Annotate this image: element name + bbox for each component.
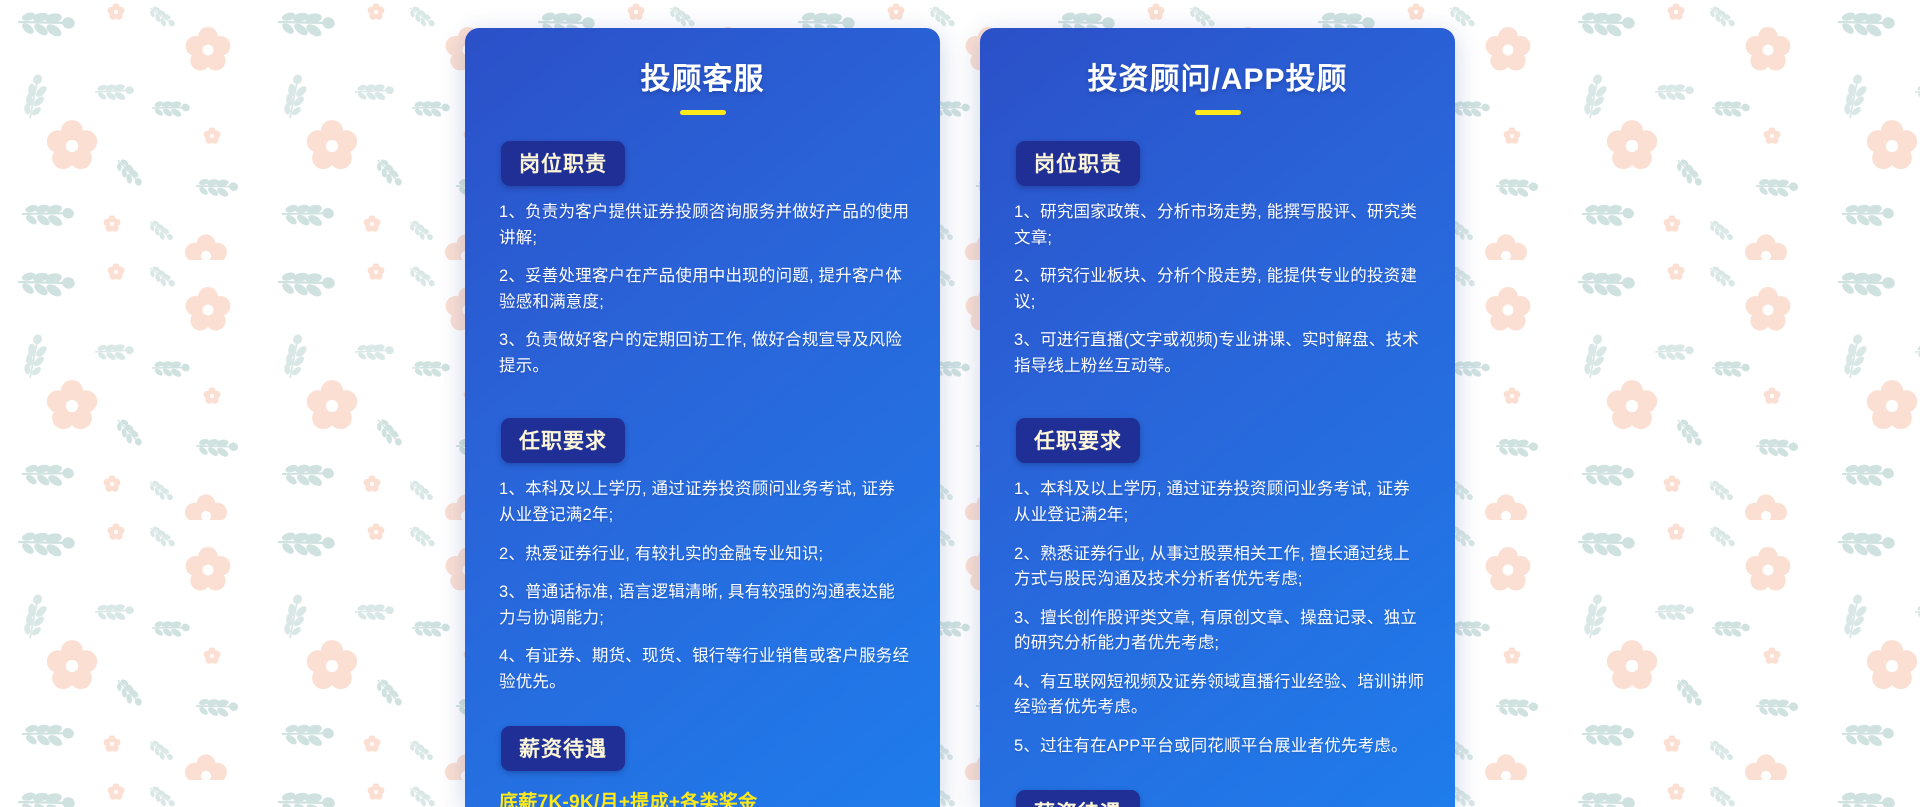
- section-badge-salary: 薪资待遇: [501, 726, 625, 771]
- title-underline-accent: [1195, 110, 1241, 115]
- responsibility-item: 1、研究国家政策、分析市场走势, 能撰写股评、研究类文章;: [1014, 200, 1425, 251]
- responsibility-item: 2、妥善处理客户在产品使用中出现的问题, 提升客户体验感和满意度;: [499, 264, 910, 315]
- title-underline-accent: [680, 110, 726, 115]
- responsibility-item: 1、负责为客户提供证券投顾咨询服务并做好产品的使用讲解;: [499, 200, 910, 251]
- requirement-item: 2、熟悉证券行业, 从事过股票相关工作, 擅长通过线上方式与股民沟通及技术分析者…: [1014, 542, 1425, 593]
- requirement-item: 1、本科及以上学历, 通过证券投资顾问业务考试, 证券从业登记满2年;: [1014, 477, 1425, 528]
- requirement-item: 4、有证券、期货、现货、银行等行业销售或客户服务经验优先。: [499, 644, 910, 695]
- section-badge-responsibilities: 岗位职责: [501, 141, 625, 186]
- salary-line: 底薪7K-9K/月+提成+各类奖金: [499, 789, 910, 807]
- section-badge-salary: 薪资待遇: [1016, 790, 1140, 807]
- responsibility-item: 3、可进行直播(文字或视频)专业讲课、实时解盘、技术指导线上粉丝互动等。: [1014, 328, 1425, 379]
- section-badge-requirements: 任职要求: [501, 418, 625, 463]
- section-badge-requirements: 任职要求: [1016, 418, 1140, 463]
- job-card-investment-advisor-service: 投顾客服 岗位职责 1、负责为客户提供证券投顾咨询服务并做好产品的使用讲解; 2…: [465, 28, 940, 807]
- job-card-investment-advisor-app: 投资顾问/APP投顾 岗位职责 1、研究国家政策、分析市场走势, 能撰写股评、研…: [980, 28, 1455, 807]
- requirement-item: 3、普通话标准, 语言逻辑清晰, 具有较强的沟通表达能力与协调能力;: [499, 580, 910, 631]
- requirement-item: 3、擅长创作股评类文章, 有原创文章、操盘记录、独立的研究分析能力者优先考虑;: [1014, 606, 1425, 657]
- section-badge-responsibilities: 岗位职责: [1016, 141, 1140, 186]
- responsibility-item: 2、研究行业板块、分析个股走势, 能提供专业的投资建议;: [1014, 264, 1425, 315]
- card-title: 投顾客服: [493, 28, 912, 98]
- requirement-item: 1、本科及以上学历, 通过证券投资顾问业务考试, 证券从业登记满2年;: [499, 477, 910, 528]
- card-title: 投资顾问/APP投顾: [1008, 28, 1427, 98]
- responsibility-item: 3、负责做好客户的定期回访工作, 做好合规宣导及风险提示。: [499, 328, 910, 379]
- requirement-item: 4、有互联网短视频及证券领域直播行业经验、培训讲师经验者优先考虑。: [1014, 670, 1425, 721]
- requirement-item: 5、过往有在APP平台或同花顺平台展业者优先考虑。: [1014, 734, 1425, 760]
- requirement-item: 2、热爱证券行业, 有较扎实的金融专业知识;: [499, 542, 910, 568]
- job-cards-container: 投顾客服 岗位职责 1、负责为客户提供证券投顾咨询服务并做好产品的使用讲解; 2…: [0, 0, 1920, 807]
